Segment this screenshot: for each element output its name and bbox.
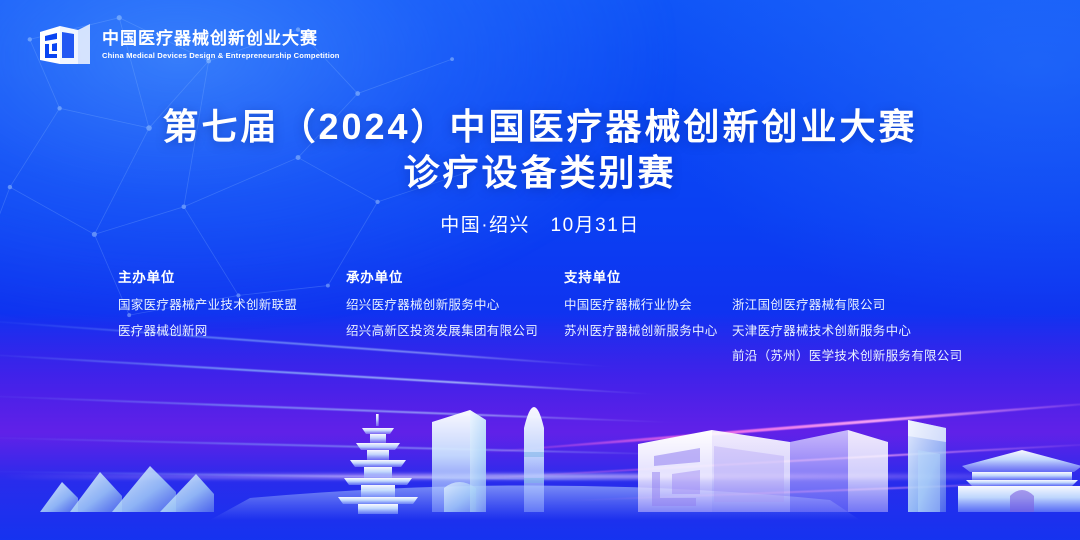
tower-building-icon [432, 410, 486, 512]
glass-tower-icon [908, 420, 946, 512]
sponsor-host-item: 医疗器械创新网 [118, 319, 346, 345]
sponsor-supporter-item: 苏州医疗器械创新服务中心 [564, 319, 732, 345]
logo-monument-icon [638, 430, 888, 512]
sponsor-supporter-item: 前沿（苏州）医学技术创新服务有限公司 [732, 344, 962, 370]
page-title-line2: 诊疗设备类别赛 [0, 150, 1080, 196]
brand-logo: 中国医疗器械创新创业大赛 China Medical Devices Desig… [38, 22, 340, 68]
page-title-line1: 第七届（2024）中国医疗器械创新创业大赛 [0, 104, 1080, 150]
poster-canvas: 中国医疗器械创新创业大赛 China Medical Devices Desig… [0, 0, 1080, 540]
sponsor-supporter-item: 中国医疗器械行业协会 [564, 293, 732, 319]
sponsor-host-item: 国家医疗器械产业技术创新联盟 [118, 293, 346, 319]
pagoda-icon [338, 414, 418, 514]
opera-house-icon [40, 466, 214, 512]
sponsor-column-organizer: 承办单位 绍兴医疗器械创新服务中心 绍兴高新区投资发展集团有限公司 [346, 266, 564, 344]
title-block: 第七届（2024）中国医疗器械创新创业大赛 诊疗设备类别赛 中国·绍兴 10月3… [0, 104, 1080, 237]
sponsor-column-host: 主办单位 国家医疗器械产业技术创新联盟 医疗器械创新网 [118, 266, 346, 344]
sponsor-organizer-title: 承办单位 [346, 266, 564, 286]
sponsor-section: 主办单位 国家医疗器械产业技术创新联盟 医疗器械创新网 承办单位 绍兴医疗器械创… [118, 266, 962, 370]
sponsor-supporter-item: 浙江国创医疗器械有限公司 [732, 293, 962, 319]
sponsor-supporter-subcolumn-b: 浙江国创医疗器械有限公司 天津医疗器械技术创新服务中心 前沿（苏州）医学技术创新… [732, 293, 962, 370]
sponsor-column-supporter: 支持单位 中国医疗器械行业协会 苏州医疗器械创新服务中心 浙江国创医疗器械有限公… [564, 266, 962, 370]
sponsor-supporter-item: 天津医疗器械技术创新服务中心 [732, 319, 962, 345]
brand-logo-cn-text: 中国医疗器械创新创业大赛 [102, 29, 340, 49]
event-location-date: 中国·绍兴 10月31日 [0, 210, 1080, 237]
spire-tower-icon [524, 407, 544, 512]
sponsor-supporter-subcolumn-a: 中国医疗器械行业协会 苏州医疗器械创新服务中心 [564, 293, 732, 370]
sponsor-supporter-title: 支持单位 [564, 266, 962, 286]
sponsor-organizer-item: 绍兴高新区投资发展集团有限公司 [346, 319, 564, 345]
city-gate-icon [958, 450, 1080, 512]
competition-book-logo-icon [38, 22, 92, 68]
brand-logo-en-text: China Medical Devices Design & Entrepren… [102, 51, 340, 61]
sponsor-organizer-item: 绍兴医疗器械创新服务中心 [346, 293, 564, 319]
sponsor-host-title: 主办单位 [118, 266, 346, 286]
cityscape-illustration [0, 380, 1080, 540]
